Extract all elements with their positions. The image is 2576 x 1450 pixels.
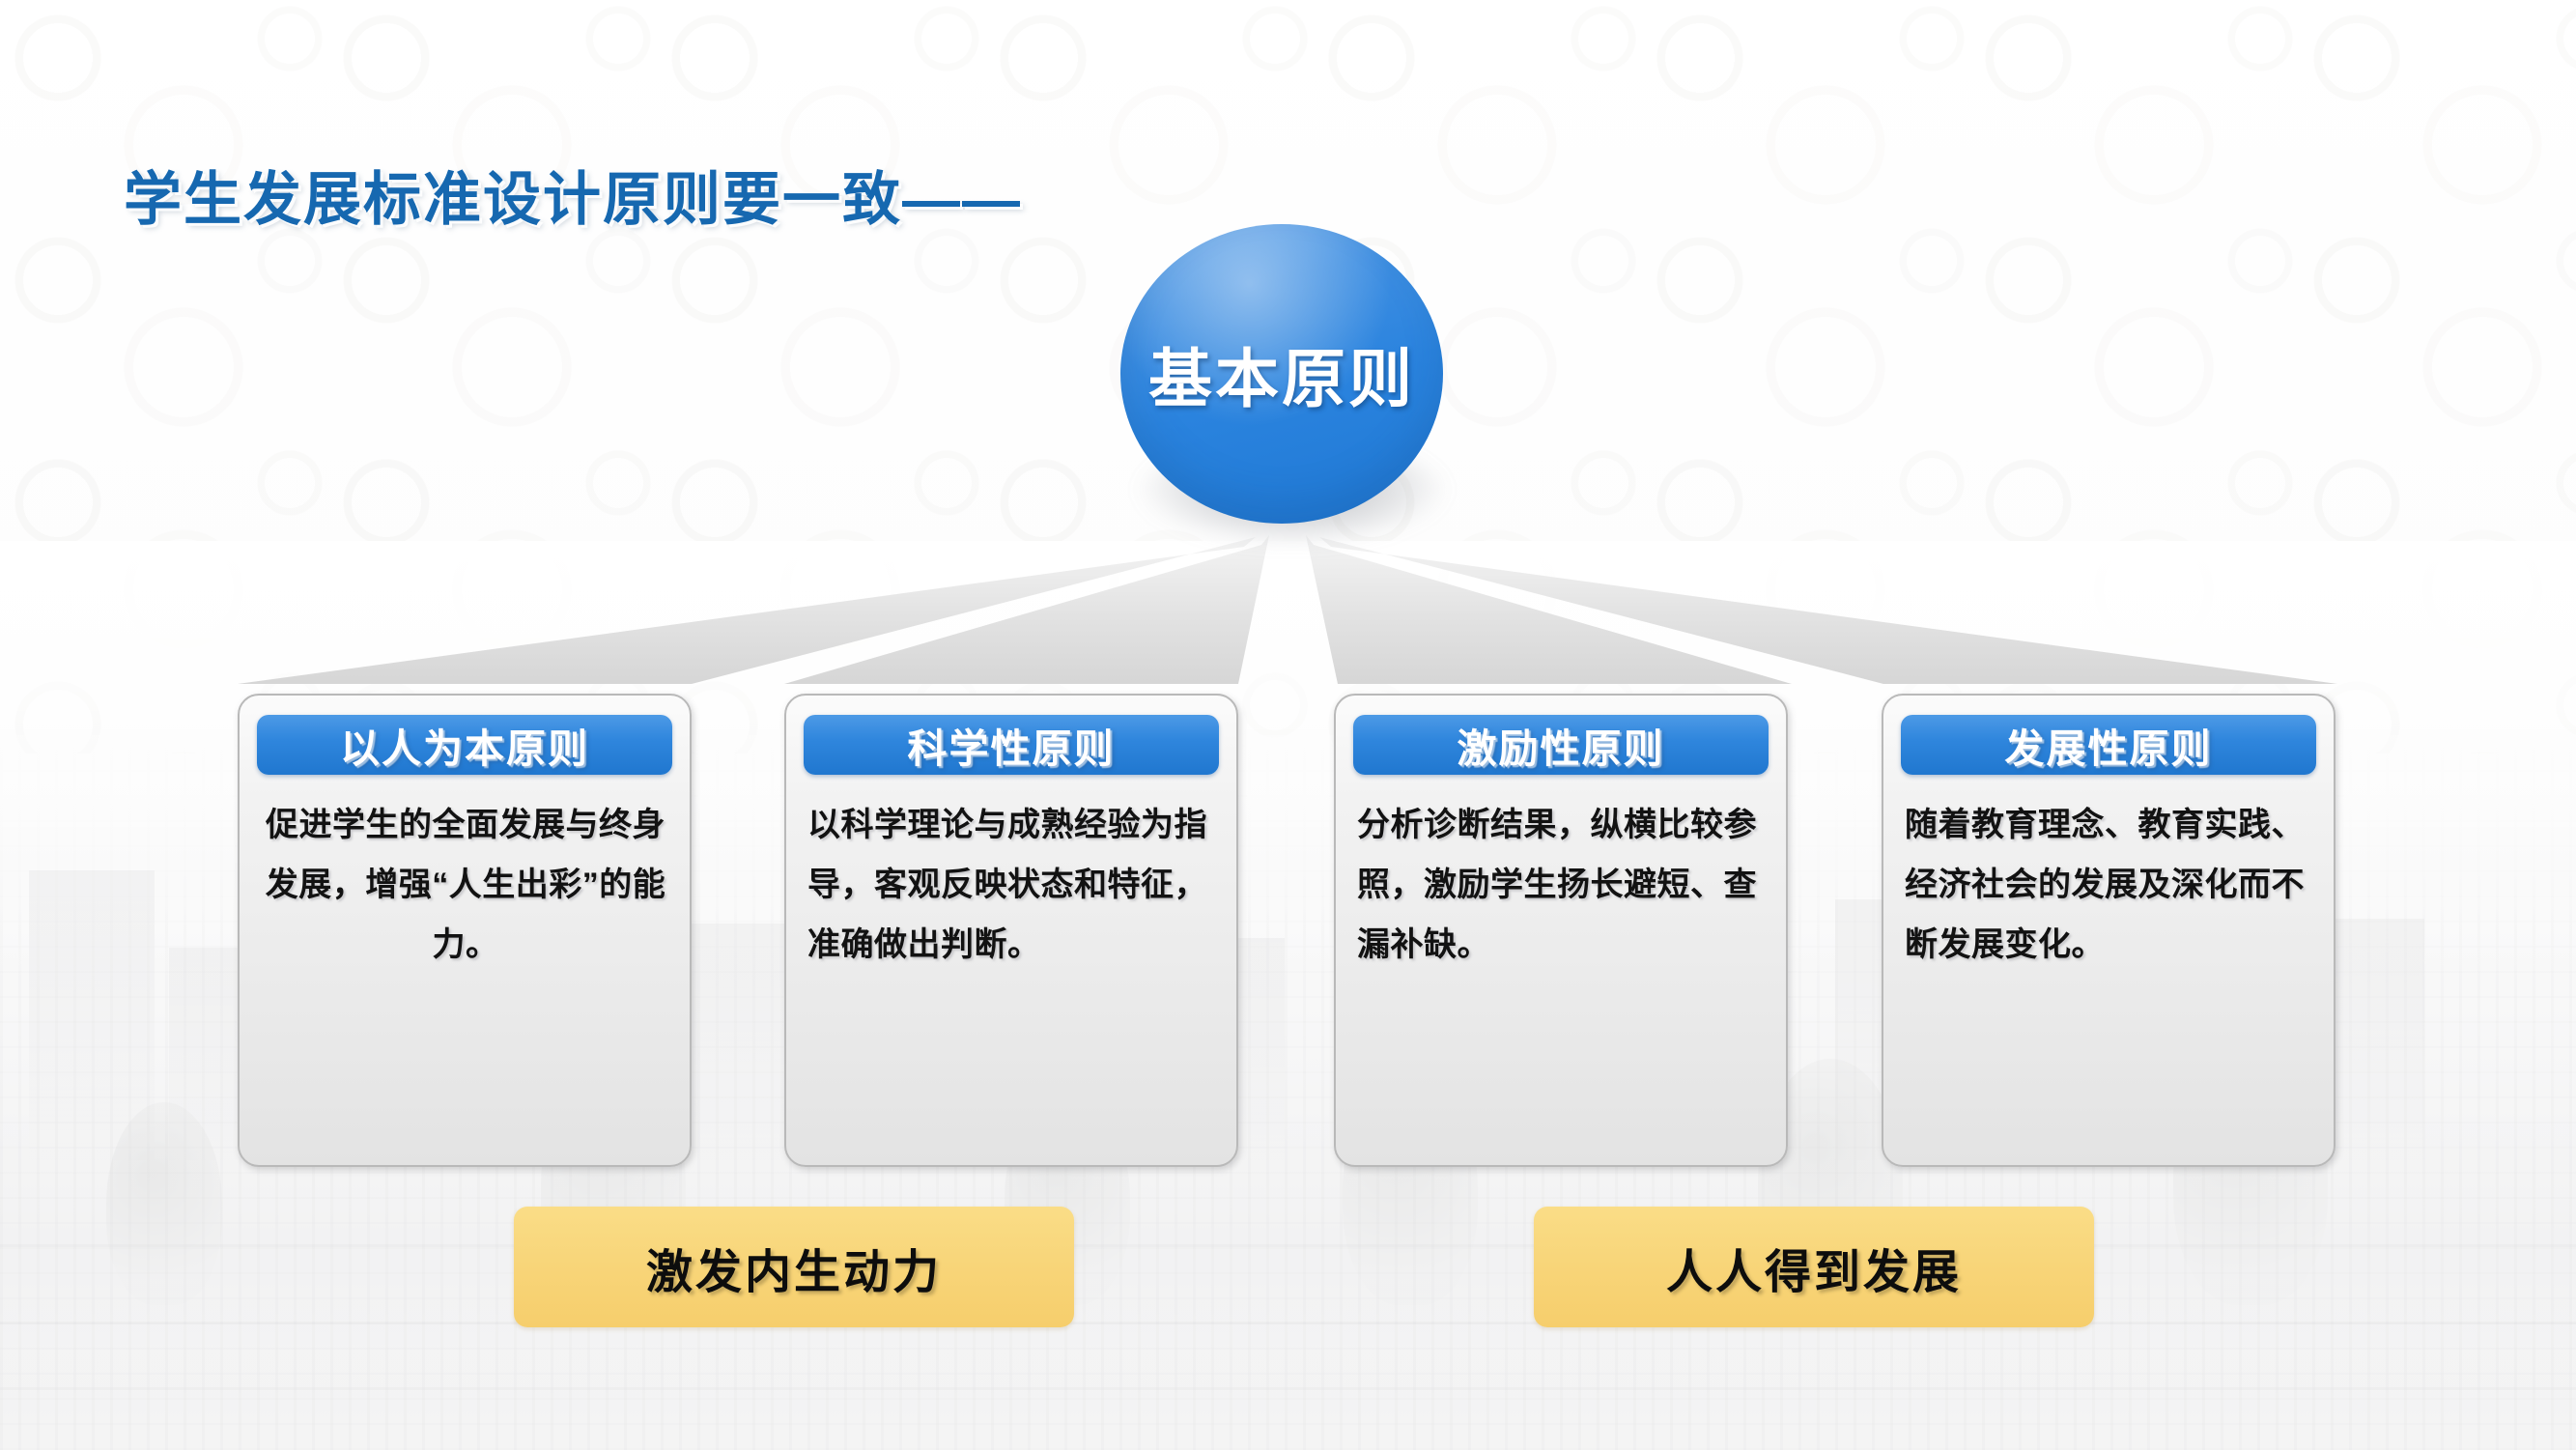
principle-card-1-header: 以人为本原则: [257, 715, 672, 775]
outcome-banner-1-label: 激发内生动力: [646, 1234, 942, 1301]
principle-card-1[interactable]: 以人为本原则 促进学生的全面发展与终身发展，增强“人生出彩”的能力。: [238, 694, 692, 1167]
outcome-banner-2[interactable]: 人人得到发展: [1534, 1207, 2094, 1327]
principle-card-2-body: 以科学理论与成熟经验为指导，客观反映状态和特征，准确做出判断。: [807, 796, 1217, 976]
principle-card-3-body: 分析诊断结果，纵横比较参照，激励学生扬长避短、查漏补缺。: [1357, 796, 1767, 976]
principle-card-4-body: 随着教育理念、教育实践、经济社会的发展及深化而不断发展变化。: [1905, 796, 2314, 976]
principle-card-2-title: 科学性原则: [908, 716, 1116, 774]
hub-circle[interactable]: 基本原则: [1120, 224, 1443, 524]
hub-label: 基本原则: [1148, 327, 1415, 420]
principle-card-4-title: 发展性原则: [2005, 716, 2213, 774]
outcome-banner-1[interactable]: 激发内生动力: [514, 1207, 1074, 1327]
principle-card-2[interactable]: 科学性原则 以科学理论与成熟经验为指导，客观反映状态和特征，准确做出判断。: [784, 694, 1238, 1167]
principle-card-2-header: 科学性原则: [804, 715, 1219, 775]
principle-card-4-header: 发展性原则: [1901, 715, 2316, 775]
principle-card-3[interactable]: 激励性原则 分析诊断结果，纵横比较参照，激励学生扬长避短、查漏补缺。: [1334, 694, 1788, 1167]
principle-card-3-title: 激励性原则: [1458, 716, 1665, 774]
slide-canvas: 学生发展标准设计原则要一致—— 基本原则 以人为本原则 促进学生的全面发展与终身…: [0, 0, 2576, 1450]
principle-card-3-header: 激励性原则: [1353, 715, 1769, 775]
principle-card-4[interactable]: 发展性原则 随着教育理念、教育实践、经济社会的发展及深化而不断发展变化。: [1882, 694, 2335, 1167]
principle-card-1-body: 促进学生的全面发展与终身发展，增强“人生出彩”的能力。: [261, 796, 670, 976]
page-title: 学生发展标准设计原则要一致——: [124, 153, 1022, 237]
connector-rays: [0, 529, 2576, 703]
outcome-banner-2-label: 人人得到发展: [1666, 1234, 1962, 1301]
principle-card-1-title: 以人为本原则: [340, 716, 589, 774]
